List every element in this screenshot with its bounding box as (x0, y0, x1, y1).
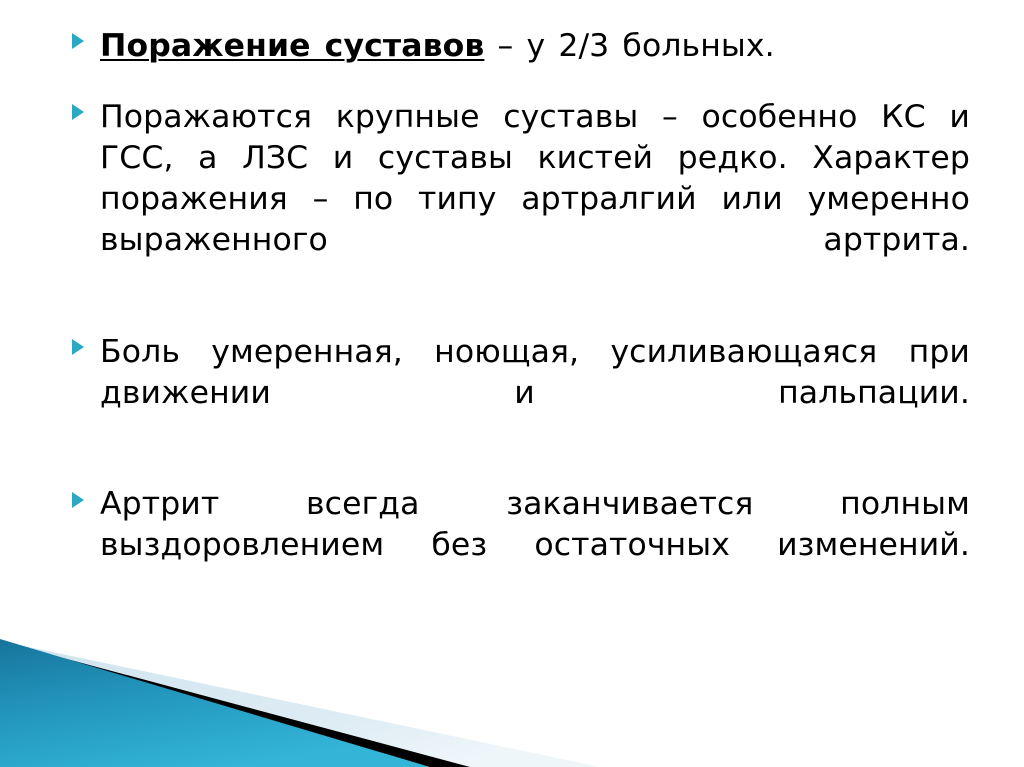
bullet-1-rest: – у 2/3 больных. (484, 28, 774, 64)
footer-decoration-svg (0, 617, 1024, 767)
list-item[interactable]: Артрит всегда заканчивается полным выздо… (62, 484, 970, 607)
triangle-right-bullet-icon (72, 492, 84, 508)
bullet-3-text: Боль умеренная, ноющая, усиливающаяся пр… (100, 332, 970, 455)
triangle-right-bullet-icon (72, 104, 84, 120)
bullet-1-emphasis: Поражение суставов (100, 28, 484, 64)
bullet-1-text: Поражение суставов – у 2/3 больных. (100, 26, 970, 67)
list-item[interactable]: Боль умеренная, ноющая, усиливающаяся пр… (62, 332, 970, 455)
triangle-right-bullet-icon (72, 339, 84, 355)
list-item[interactable]: Поражение суставов – у 2/3 больных. (62, 26, 970, 67)
slide-content-body: Поражение суставов – у 2/3 больных. Пора… (62, 26, 970, 607)
flow-theme-footer-graphic (0, 617, 1024, 767)
list-item[interactable]: Поражаются крупные суставы – особенно КС… (62, 97, 970, 302)
bullet-2-text: Поражаются крупные суставы – особенно КС… (100, 97, 970, 302)
pale-blue-wedge (0, 641, 600, 767)
triangle-right-bullet-icon (72, 33, 84, 49)
bullet-4-text: Артрит всегда заканчивается полным выздо… (100, 484, 970, 607)
black-stripe (0, 641, 470, 767)
slide-canvas: Поражение суставов – у 2/3 больных. Пора… (0, 0, 1024, 767)
teal-gradient-triangle (0, 639, 430, 767)
